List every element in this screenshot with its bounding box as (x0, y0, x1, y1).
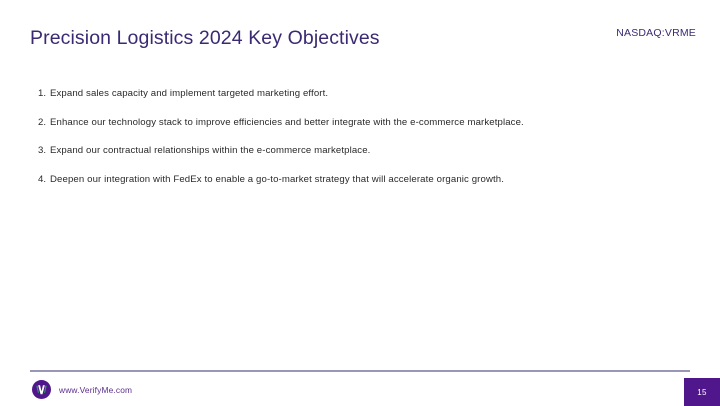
footer-divider (30, 370, 690, 372)
list-item-number: 2. (30, 115, 50, 132)
page-number-badge: 15 (684, 378, 720, 406)
list-item-text: Expand our contractual relationships wit… (50, 143, 575, 160)
stock-ticker: NASDAQ:VRME (616, 27, 696, 39)
footer-website-link[interactable]: www.VerifyMe.com (59, 385, 132, 395)
page-title: Precision Logistics 2024 Key Objectives (30, 27, 380, 50)
list-item-number: 3. (30, 143, 50, 160)
objectives-list: 1. Expand sales capacity and implement t… (30, 86, 630, 200)
page-number: 15 (697, 388, 707, 397)
list-item-number: 4. (30, 172, 50, 189)
list-item-text: Deepen our integration with FedEx to ena… (50, 172, 575, 189)
list-item: 1. Expand sales capacity and implement t… (30, 86, 630, 103)
list-item-text: Enhance our technology stack to improve … (50, 115, 575, 132)
slide: Precision Logistics 2024 Key Objectives … (0, 0, 720, 406)
list-item: 2. Enhance our technology stack to impro… (30, 115, 630, 132)
footer-brand: www.VerifyMe.com (32, 380, 132, 399)
list-item: 3. Expand our contractual relationships … (30, 143, 630, 160)
list-item-text: Expand sales capacity and implement targ… (50, 86, 575, 103)
verifyme-logo-icon (32, 380, 51, 399)
list-item: 4. Deepen our integration with FedEx to … (30, 172, 630, 189)
list-item-number: 1. (30, 86, 50, 103)
